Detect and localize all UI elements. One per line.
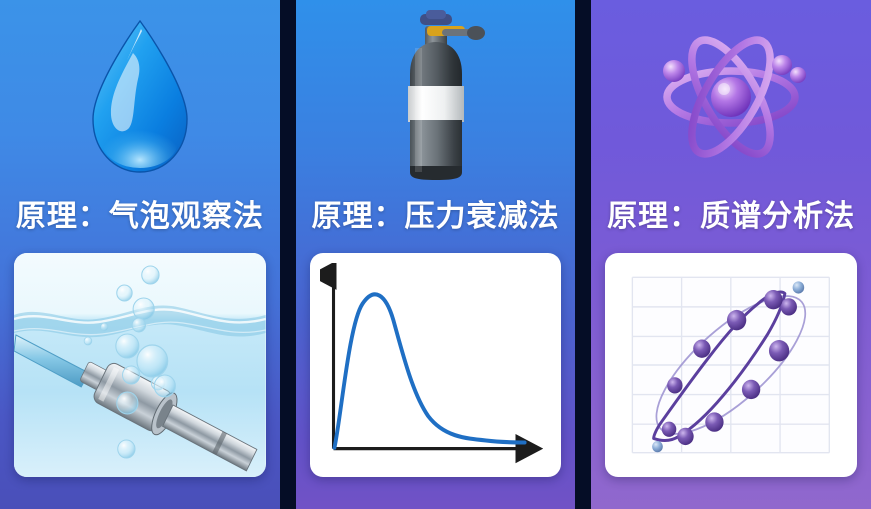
atom-icon bbox=[656, 21, 806, 173]
mass-spectrum-scatter-chart bbox=[605, 253, 857, 477]
icon-zone-cylinder bbox=[296, 0, 576, 193]
panel-divider-2 bbox=[575, 0, 591, 509]
pressure-decay-curve-chart bbox=[310, 253, 562, 477]
panel-pressure[interactable]: 原理：压力衰减法 bbox=[296, 0, 576, 509]
figure-zone-massspec bbox=[591, 241, 871, 491]
icon-zone-atom bbox=[591, 0, 871, 193]
pressure-decay-line bbox=[334, 294, 524, 447]
icon-zone-bubble bbox=[0, 0, 280, 193]
panel-title-massspec: 原理：质谱分析法 bbox=[591, 193, 871, 241]
panel-title-pressure: 原理：压力衰减法 bbox=[296, 193, 576, 241]
panel-title-bubble: 原理：气泡观察法 bbox=[0, 193, 280, 241]
water-droplet-icon bbox=[81, 17, 199, 177]
figure-zone-pressure bbox=[296, 241, 576, 491]
panel-bubble[interactable]: 原理：气泡观察法 bbox=[0, 0, 280, 509]
underwater-bubble-leak-photo bbox=[14, 253, 266, 477]
gas-cylinder-icon bbox=[382, 8, 490, 186]
panel-massspec[interactable]: 原理：质谱分析法 bbox=[591, 0, 871, 509]
figure-zone-bubble bbox=[0, 241, 280, 491]
panel-divider-1 bbox=[280, 0, 296, 509]
three-panel-board: 原理：气泡观察法 bbox=[0, 0, 871, 509]
